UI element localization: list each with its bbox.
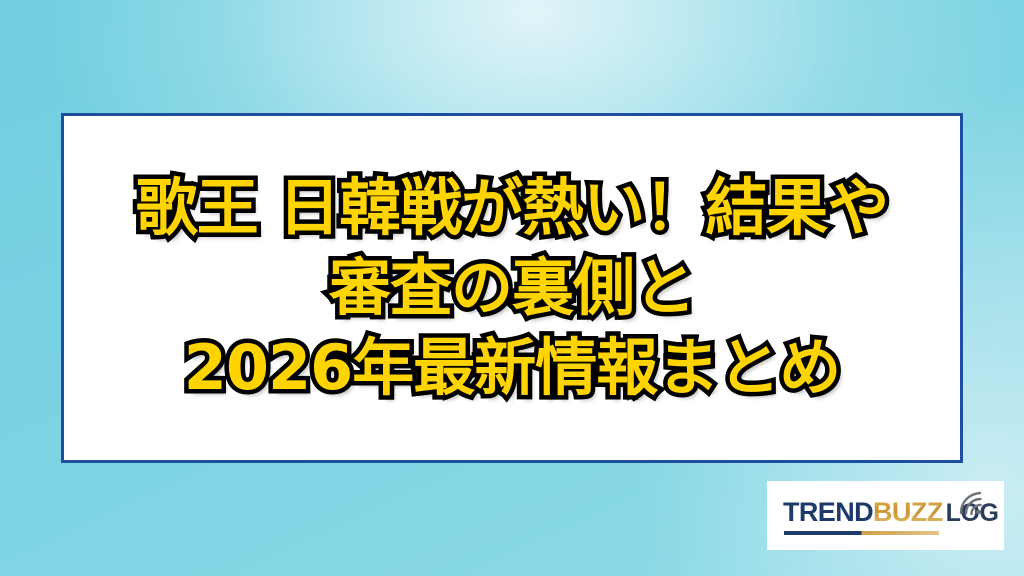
logo-text-buzz: BUZZ [873, 497, 943, 528]
title-block: 歌王 日韓戦が熱い！結果や 審査の裏側と 2026年最新情報まとめ [64, 168, 960, 408]
title-line-1: 歌王 日韓戦が熱い！結果や [78, 168, 946, 248]
logo-badge[interactable]: TREND BUZZ LOG [767, 481, 1004, 550]
wifi-signal-dot [976, 509, 981, 514]
wifi-signal-icon [956, 489, 990, 515]
title-line-3: 2026年最新情報まとめ [78, 328, 946, 408]
logo-underline-bar [784, 531, 939, 535]
title-card: 歌王 日韓戦が熱い！結果や 審査の裏側と 2026年最新情報まとめ [61, 113, 963, 463]
title-line-2: 審査の裏側と [78, 248, 946, 328]
thumbnail-canvas: 歌王 日韓戦が熱い！結果や 審査の裏側と 2026年最新情報まとめ TREND … [0, 0, 1024, 576]
logo-text-trend: TREND [783, 497, 873, 528]
logo-inner: TREND BUZZ LOG [783, 493, 988, 539]
